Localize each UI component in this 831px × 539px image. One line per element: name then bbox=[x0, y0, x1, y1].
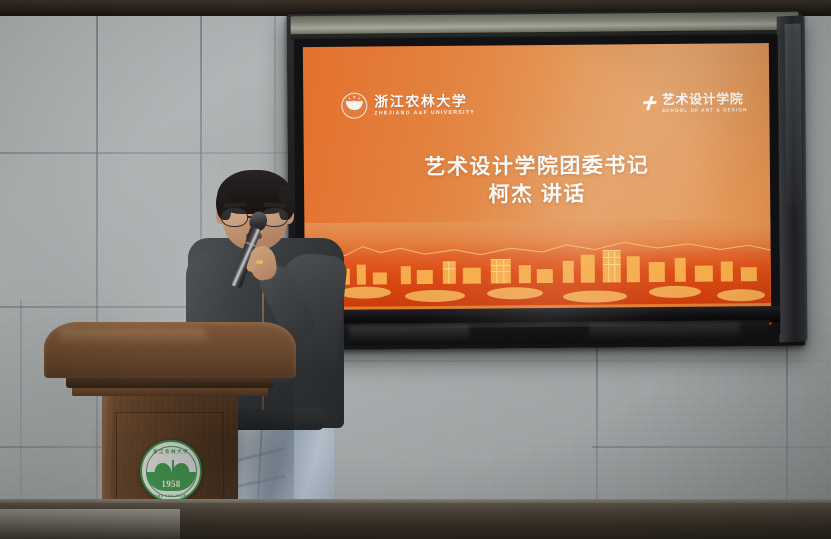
photo-scene: 浙江农林大学 ZHEJIANG A&F UNIVERSITY 艺术设计学院 SC… bbox=[0, 0, 831, 539]
presentation-display[interactable]: 浙江农林大学 ZHEJIANG A&F UNIVERSITY 艺术设计学院 SC… bbox=[288, 12, 804, 348]
floor-light-patch bbox=[0, 509, 180, 539]
slide-header: 浙江农林大学 ZHEJIANG A&F UNIVERSITY 艺术设计学院 SC… bbox=[303, 81, 769, 127]
wall-panel-seam bbox=[0, 152, 296, 154]
lectern-desktop bbox=[44, 322, 296, 378]
wall-panel-seam bbox=[300, 360, 831, 362]
tv-side-gloss bbox=[785, 23, 803, 204]
tv-bezel: 浙江农林大学 ZHEJIANG A&F UNIVERSITY 艺术设计学院 SC… bbox=[294, 35, 781, 339]
skyline-haze bbox=[304, 219, 770, 257]
school-name-cn: 艺术设计学院 bbox=[662, 92, 748, 106]
tv-underside-reflection bbox=[589, 322, 739, 339]
finger-ring bbox=[256, 260, 263, 264]
wall-panel-seam bbox=[592, 446, 831, 448]
university-crest-icon bbox=[341, 93, 367, 119]
wall-panel-seam bbox=[596, 330, 598, 510]
university-logo: 浙江农林大学 ZHEJIANG A&F UNIVERSITY bbox=[341, 92, 475, 119]
lens-left bbox=[221, 208, 248, 227]
wall-panel-seam bbox=[20, 300, 22, 510]
tv-underside-reflection bbox=[349, 325, 469, 342]
university-name-cn: 浙江农林大学 bbox=[374, 93, 475, 109]
slide-title: 艺术设计学院团委书记 柯杰 讲话 bbox=[304, 151, 770, 212]
slide-title-line1: 艺术设计学院团委书记 bbox=[304, 151, 770, 183]
seal-text-en: ZHEJIANG A&F UNIVERSITY bbox=[142, 494, 200, 498]
seal-year: 1958 bbox=[142, 479, 200, 489]
crest-dots-icon bbox=[342, 94, 366, 118]
wall-panel-seam bbox=[786, 330, 788, 510]
tv-chassis: 浙江农林大学 ZHEJIANG A&F UNIVERSITY 艺术设计学院 SC… bbox=[287, 10, 806, 350]
university-seal-emblem: 浙江农林大学 1958 ZHEJIANG A&F UNIVERSITY bbox=[140, 440, 202, 502]
school-name-en: SCHOOL OF ART & DESIGN bbox=[662, 108, 747, 114]
art-design-mark-icon bbox=[641, 95, 657, 111]
slide-screen[interactable]: 浙江农林大学 ZHEJIANG A&F UNIVERSITY 艺术设计学院 SC… bbox=[303, 43, 771, 329]
lectern-desktop-sheen bbox=[58, 328, 208, 346]
school-logo: 艺术设计学院 SCHOOL OF ART & DESIGN bbox=[641, 92, 748, 114]
university-name-en: ZHEJIANG A&F UNIVERSITY bbox=[374, 110, 475, 117]
seal-text-cn: 浙江农林大学 bbox=[142, 449, 200, 455]
lectern-moulding-lower bbox=[72, 387, 268, 396]
slide-title-line2: 柯杰 讲话 bbox=[304, 179, 770, 211]
